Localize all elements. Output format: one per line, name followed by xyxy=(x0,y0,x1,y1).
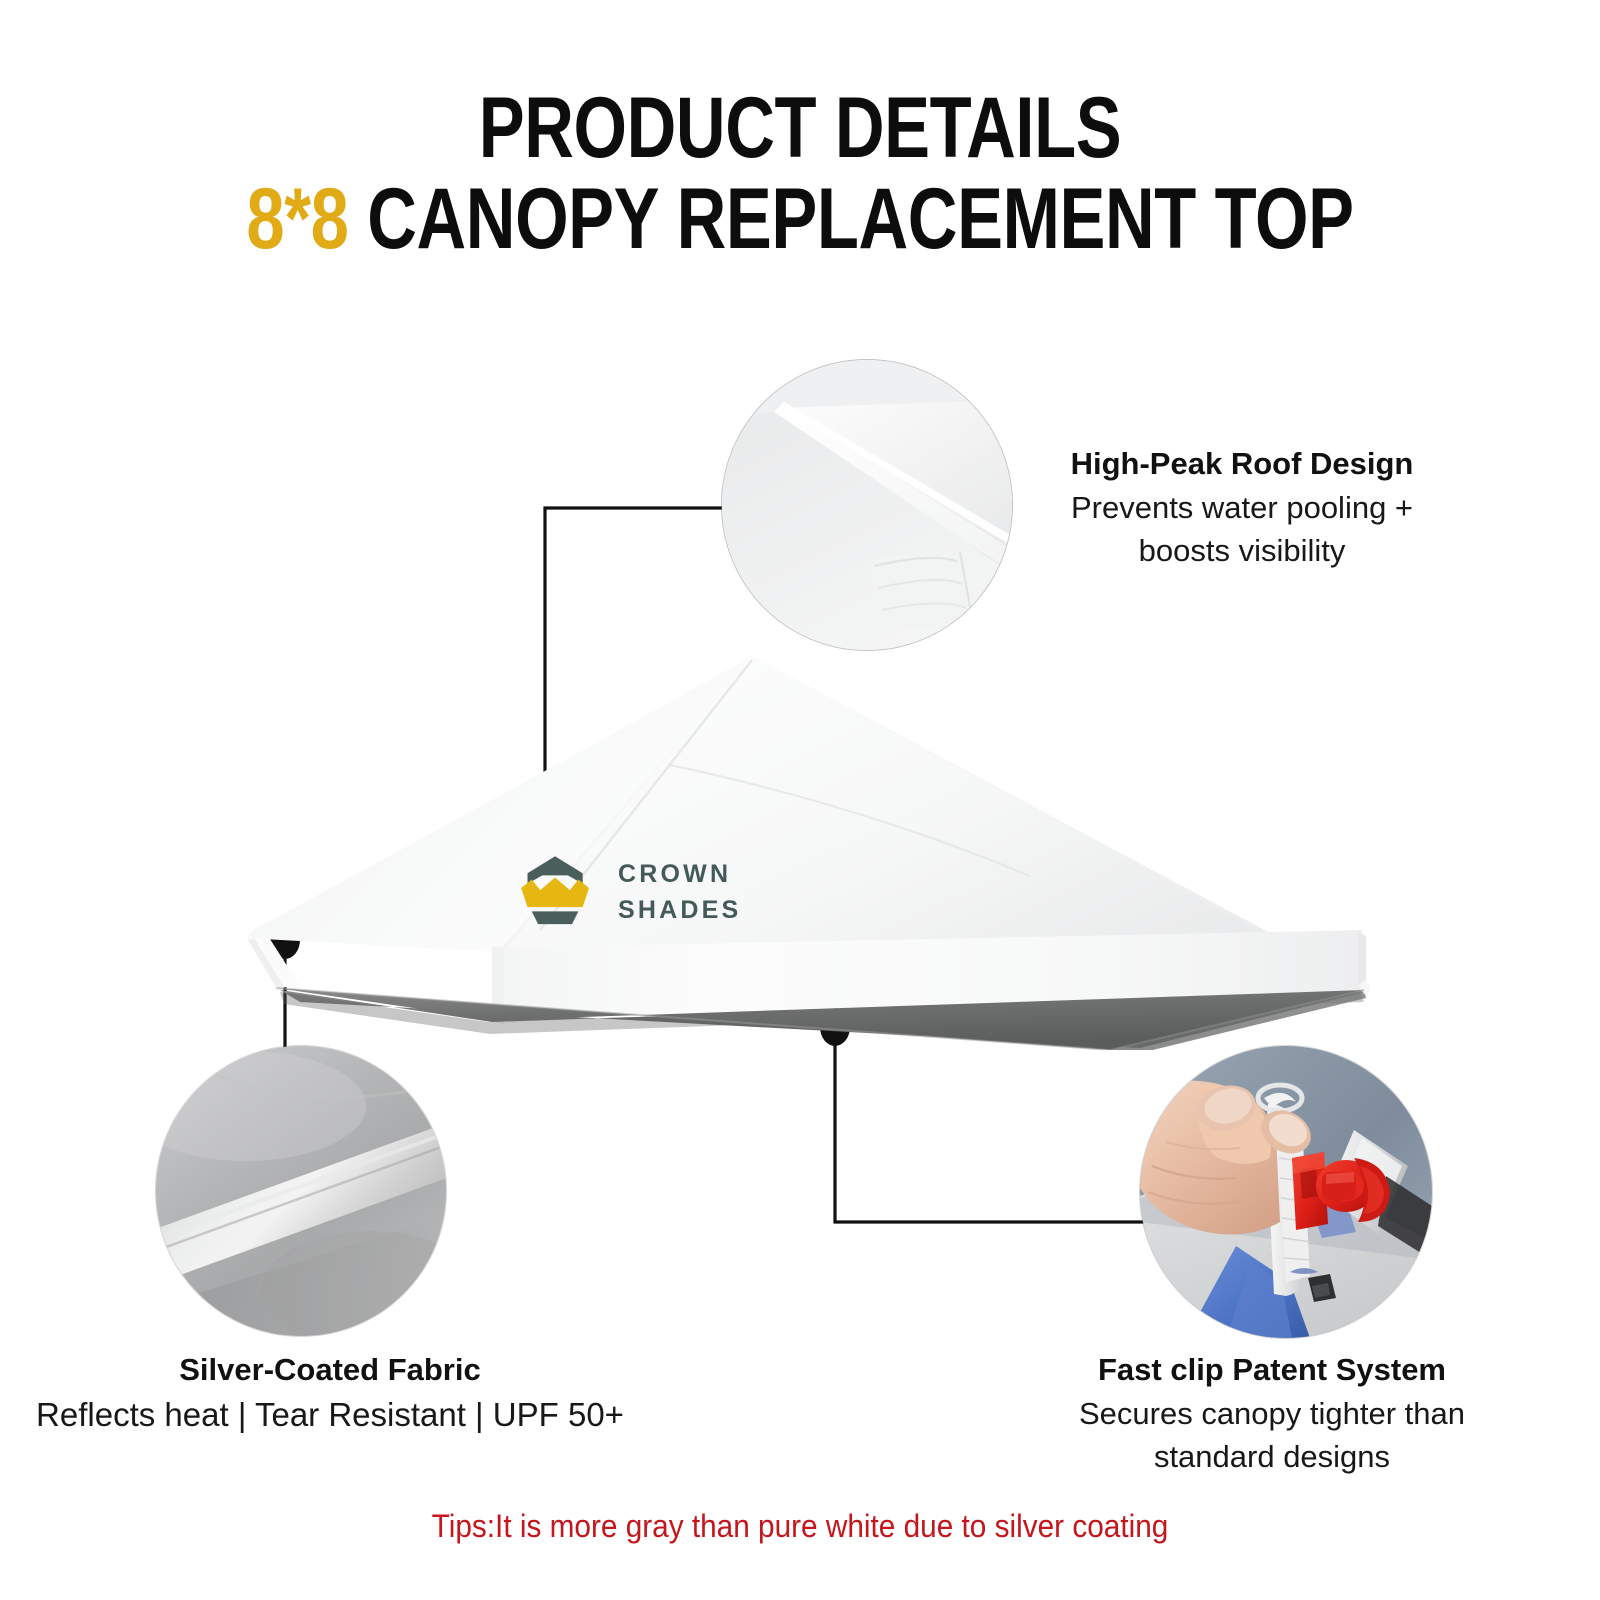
callout-fast-clip-patent-system: Fast clip Patent System Secures canopy t… xyxy=(1022,1352,1522,1476)
size-accent-label: 8*8 xyxy=(246,171,348,267)
detail-circle-high-peak-roof xyxy=(722,360,1012,650)
callout-heading-silver-coated-fabric: Silver-Coated Fabric xyxy=(10,1352,650,1389)
callout-body-fast-clip-line2: standard designs xyxy=(1022,1438,1522,1476)
page-subtitle: 8*8 CANOPY REPLACEMENT TOP xyxy=(160,176,1440,262)
callout-high-peak-roof: High-Peak Roof Design Prevents water poo… xyxy=(1022,446,1462,570)
silver-fabric-closeup-image xyxy=(156,1046,446,1336)
callout-body-high-peak-roof-line2: boosts visibility xyxy=(1022,532,1462,570)
tip-note: Tips:It is more gray than pure white due… xyxy=(56,1508,1544,1545)
infographic-canvas: PRODUCT DETAILS 8*8 CANOPY REPLACEMENT T… xyxy=(0,0,1600,1600)
canopy-product-image: CROWN SHADES xyxy=(240,630,1370,1050)
detail-circle-silver-fabric xyxy=(156,1046,446,1336)
peak-closeup-image xyxy=(722,360,1012,650)
fast-clip-photo xyxy=(1140,1046,1432,1338)
callout-silver-coated-fabric: Silver-Coated Fabric Reflects heat | Tea… xyxy=(10,1352,650,1435)
callout-heading-fast-clip: Fast clip Patent System xyxy=(1022,1352,1522,1389)
callout-heading-high-peak-roof: High-Peak Roof Design xyxy=(1022,446,1462,483)
svg-text:CROWN: CROWN xyxy=(618,860,731,888)
title-block: PRODUCT DETAILS 8*8 CANOPY REPLACEMENT T… xyxy=(0,86,1600,262)
svg-text:SHADES: SHADES xyxy=(618,896,741,924)
callout-body-fast-clip-line1: Secures canopy tighter than xyxy=(1022,1395,1522,1433)
detail-circle-fast-clip xyxy=(1140,1046,1432,1338)
subtitle-rest: CANOPY REPLACEMENT TOP xyxy=(349,171,1354,267)
page-title: PRODUCT DETAILS xyxy=(160,86,1440,170)
canopy-illustration: CROWN SHADES xyxy=(240,630,1370,1050)
callout-body-high-peak-roof-line1: Prevents water pooling + xyxy=(1022,489,1462,527)
callout-body-silver-coated-fabric: Reflects heat | Tear Resistant | UPF 50+ xyxy=(10,1395,650,1435)
